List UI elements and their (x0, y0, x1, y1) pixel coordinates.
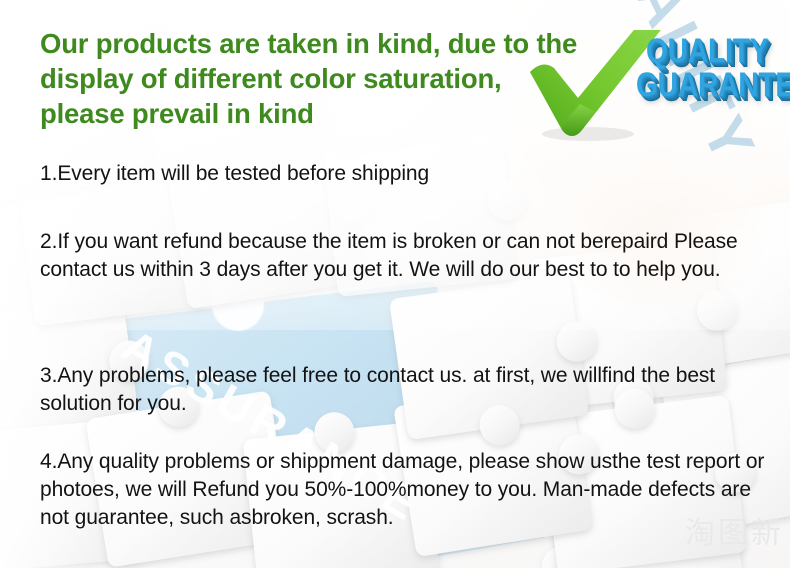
banner-content: Our products are taken in kind, due to t… (0, 0, 790, 568)
term-text: 2.If you want refund because the item is… (40, 228, 775, 284)
quality-guarantee-banner: ASSURANCE QUALITY 淘图新 (0, 0, 790, 568)
page-title: Our products are taken in kind, due to t… (40, 26, 580, 132)
term-text: 4.Any quality problems or shippment dama… (40, 448, 775, 532)
terms-list-item-3: 3.Any problems, please feel free to cont… (40, 362, 775, 418)
terms-list-item-1: 1.Every item will be tested before shipp… (40, 160, 740, 188)
terms-list-item-4: 4.Any quality problems or shippment dama… (40, 448, 775, 532)
term-text: 3.Any problems, please feel free to cont… (40, 362, 775, 418)
terms-list-item-2: 2.If you want refund because the item is… (40, 228, 775, 284)
term-text: 1.Every item will be tested before shipp… (40, 160, 740, 188)
